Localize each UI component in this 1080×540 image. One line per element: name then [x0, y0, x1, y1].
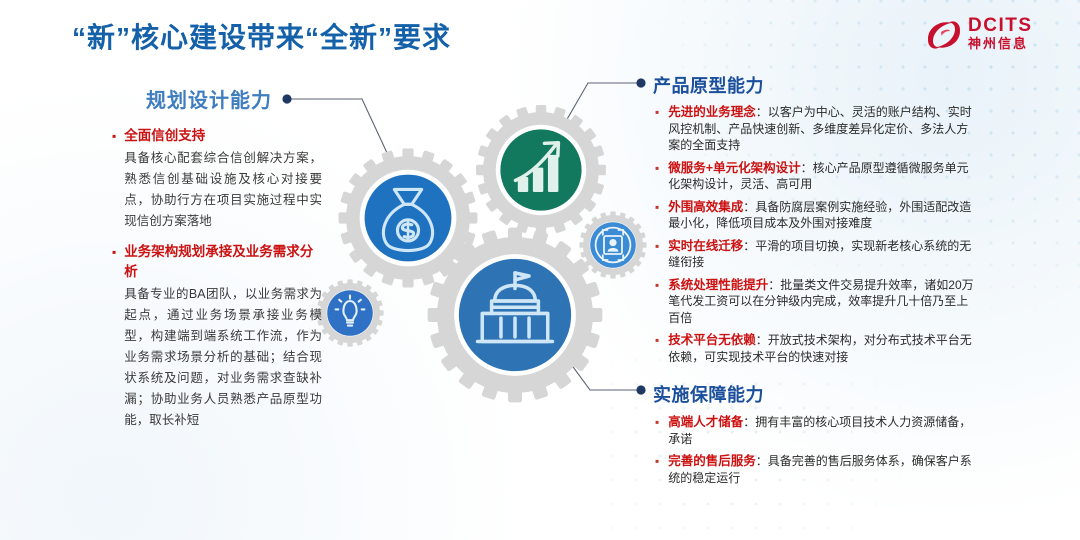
list-item: ▪ 实时在线迁移：平滑的项目切换，实现新老核心系统的无缝衔接 — [655, 238, 975, 271]
item-text: 系统处理性能提升：批量类文件交易提升效率，诸如20万笔代发工资可以在分钟级内完成… — [668, 277, 975, 327]
list-item: ▪ 完善的售后服务：具备完善的售后服务体系，确保客户系统的稳定运行 — [655, 453, 975, 486]
item-sep: ： — [756, 454, 768, 468]
list-item: ▪ 高端人才储备：拥有丰富的核心项目技术人力资源储备，承诺 — [655, 414, 975, 447]
list-item: ▪ 技术平台无依赖：开放式技术架构，对分布式技术平台无依赖，可实现技术平台的快速… — [655, 332, 975, 365]
item-key: 技术平台无依赖 — [668, 333, 756, 347]
item-sep: ： — [801, 161, 813, 175]
planning-items-list: ▪ 全面信创支持 具备核心配套综合信创解决方案，熟悉信创基础设施及核心对接要点，… — [112, 126, 322, 441]
item-body: 具备核心配套综合信创解决方案，熟悉信创基础设施及核心对接要点，协助行方在项目实施… — [124, 148, 322, 232]
item-key: 微服务+单元化架构设计 — [668, 161, 800, 175]
product-items-list: ▪ 先进的业务理念：以客户为中心、灵活的账户结构、实时风控机制、产品快速创新、多… — [655, 104, 975, 371]
item-key: 实时在线迁移 — [668, 239, 743, 253]
gear-cluster-illustration — [300, 60, 660, 480]
brand-name-cn: 神州信息 — [968, 36, 1033, 52]
list-item: ▪ 微服务+单元化架构设计：核心产品原型遵循微服务单元化架构设计，灵活、高可用 — [655, 160, 975, 193]
item-sep: ： — [756, 105, 768, 119]
gear-user-badge — [579, 211, 646, 278]
item-body: 具备专业的BA团队，以业务需求为起点，通过业务场景承接业务模型，构建端到端系统工… — [124, 284, 322, 431]
item-text: 高端人才储备：拥有丰富的核心项目技术人力资源储备，承诺 — [668, 414, 975, 447]
gear-lightbulb — [316, 279, 383, 346]
slide-canvas: “新”核心建设带来“全新”要求 DCITS 神州信息 — [0, 0, 1080, 540]
item-key: 外围高效集成 — [668, 200, 743, 214]
bullet-dot-icon: ▪ — [655, 453, 659, 486]
dcits-swoosh-logo-icon — [924, 18, 964, 52]
item-text: 先进的业务理念：以客户为中心、灵活的账户结构、实时风控机制、产品快速创新、多维度… — [668, 104, 975, 154]
list-item: ▪ 全面信创支持 具备核心配套综合信创解决方案，熟悉信创基础设施及核心对接要点，… — [112, 126, 322, 232]
item-key: 高端人才储备 — [668, 415, 743, 429]
page-title: “新”核心建设带来“全新”要求 — [72, 16, 451, 56]
item-text: 技术平台无依赖：开放式技术架构，对分布式技术平台无依赖，可实现技术平台的快速对接 — [668, 332, 975, 365]
section-heading-product: 产品原型能力 — [653, 72, 764, 98]
brand-logo: DCITS 神州信息 — [924, 14, 1064, 62]
item-text: 完善的售后服务：具备完善的售后服务体系，确保客户系统的稳定运行 — [668, 453, 975, 486]
item-text: 实时在线迁移：平滑的项目切换，实现新老核心系统的无缝衔接 — [668, 238, 975, 271]
brand-name: DCITS — [968, 16, 1033, 36]
bullet-dot-icon: ▪ — [655, 199, 659, 232]
list-item: ▪ 外围高效集成：具备防腐层案例实施经验，外围适配改造最小化，降低项目成本及外围… — [655, 199, 975, 232]
item-sep: ： — [743, 415, 755, 429]
item-sep: ： — [768, 278, 780, 292]
item-sep: ： — [743, 200, 755, 214]
item-key: 先进的业务理念 — [668, 105, 756, 119]
item-title: 业务架构规划承接及业务需求分析 — [124, 242, 322, 282]
gear-growth-chart — [476, 105, 606, 235]
bullet-dot-icon: ▪ — [655, 104, 659, 154]
item-key: 系统处理性能提升 — [668, 278, 768, 292]
list-item: ▪ 业务架构规划承接及业务需求分析 具备专业的BA团队，以业务需求为起点，通过业… — [112, 242, 322, 431]
delivery-items-list: ▪ 高端人才储备：拥有丰富的核心项目技术人力资源储备，承诺 ▪ 完善的售后服务：… — [655, 414, 975, 492]
item-sep: ： — [743, 239, 755, 253]
section-heading-planning: 规划设计能力 — [146, 84, 272, 113]
bullet-dot-icon: ▪ — [655, 160, 659, 193]
item-key: 完善的售后服务 — [668, 454, 756, 468]
bullet-dot-icon: ▪ — [655, 238, 659, 271]
bullet-dot-icon: ▪ — [655, 414, 659, 447]
bullet-dot-icon: ▪ — [112, 126, 116, 232]
bullet-dot-icon: ▪ — [655, 332, 659, 365]
item-text: 外围高效集成：具备防腐层案例实施经验，外围适配改造最小化，降低项目成本及外围对接… — [668, 199, 975, 232]
item-text: 微服务+单元化架构设计：核心产品原型遵循微服务单元化架构设计，灵活、高可用 — [668, 160, 975, 193]
item-sep: ： — [756, 333, 768, 347]
list-item: ▪ 先进的业务理念：以客户为中心、灵活的账户结构、实时风控机制、产品快速创新、多… — [655, 104, 975, 154]
list-item: ▪ 系统处理性能提升：批量类文件交易提升效率，诸如20万笔代发工资可以在分钟级内… — [655, 277, 975, 327]
section-heading-delivery: 实施保障能力 — [653, 381, 764, 407]
bullet-dot-icon: ▪ — [112, 242, 116, 431]
bullet-dot-icon: ▪ — [655, 277, 659, 327]
item-title: 全面信创支持 — [124, 126, 322, 146]
